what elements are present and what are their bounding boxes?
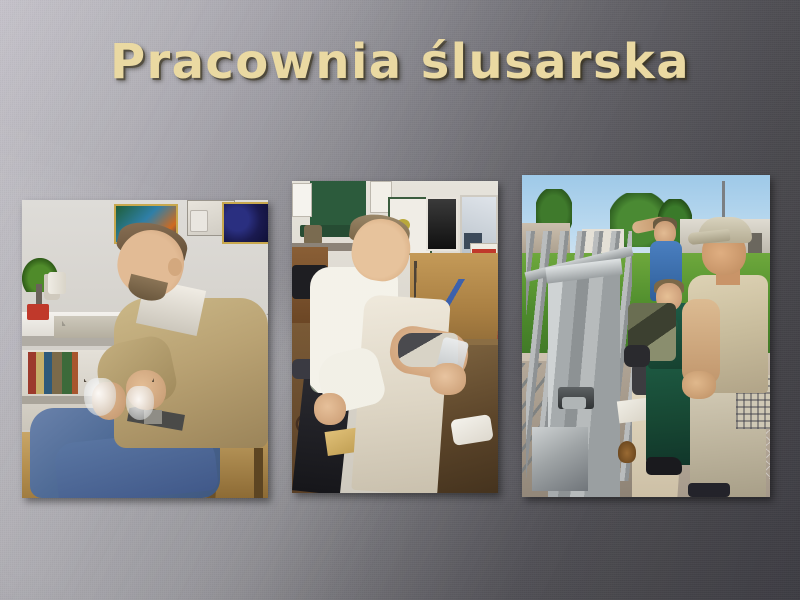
glass-object-left [84,378,116,416]
stool-leg-right [254,448,263,498]
photo-outdoor-fence-installation[interactable] [522,175,770,497]
foreman-hand [682,371,716,399]
wall-picture-blue [222,202,268,244]
foreman-shoe [688,483,730,497]
student-right-hand [430,363,466,395]
photo-workshop-wire-bending[interactable] [22,200,268,498]
photo-2-scene [292,181,498,493]
object-on-path [618,441,636,463]
wall-photo-dark [426,197,458,251]
red-box [27,304,49,320]
worker-green-glove [624,345,650,367]
books-on-shelf [28,352,78,394]
paper-roll [48,272,66,294]
worker-green-shoe [646,457,682,475]
fence-lock-bolt [562,397,586,409]
photo-student-at-workbench[interactable] [292,181,498,493]
student-left-hand [314,393,346,425]
wall-outlet [190,210,208,232]
photo-3-scene [522,175,770,497]
presentation-slide: Pracownia ślusarska [0,0,800,600]
glass-object-right [126,386,154,420]
shelf-object [304,225,322,245]
photo-1-scene [22,200,268,498]
wire-workpiece [84,342,154,382]
fence-post-block [532,427,588,491]
wall-paper-left [292,183,312,217]
person-ear [168,258,182,276]
slide-title: Pracownia ślusarska [0,34,800,90]
